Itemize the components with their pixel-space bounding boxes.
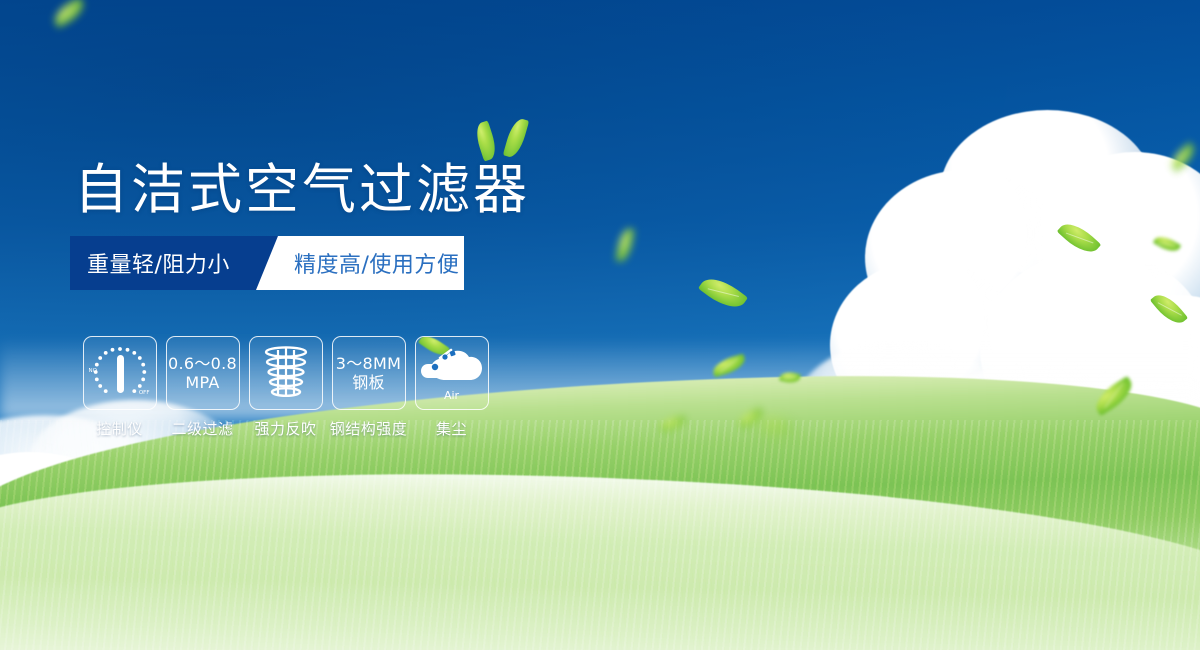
feature-label: 控制仪 (96, 418, 143, 439)
steel-plate-text-icon: 3～8MM 钢板 (336, 354, 401, 392)
feature-label: 钢结构强度 (330, 418, 408, 439)
cloud-glyph-icon (421, 344, 483, 388)
feature-label: 强力反吹 (254, 418, 316, 439)
feature-list: NO OFF 控制仪 0.6～0.8 MPA 二级过滤 (78, 336, 493, 439)
feature-label: 集尘 (436, 418, 467, 439)
dial-on-label: NO (89, 368, 97, 374)
air-cloud-icon: Air (421, 344, 483, 402)
subtitle-bar: 重量轻/阻力小 精度高/使用方便 (70, 236, 464, 290)
dial-pointer (117, 355, 124, 393)
steel-material: 钢板 (336, 373, 401, 392)
control-dial-icon: NO OFF (88, 341, 152, 405)
feature-item-dust-collection[interactable]: Air 集尘 (410, 336, 493, 439)
subtitle-right-panel: 精度高/使用方便 (256, 236, 464, 290)
feature-icon-box: Air (415, 336, 489, 410)
feature-icon-box: NO OFF (83, 336, 157, 410)
pressure-range: 0.6～0.8 (168, 354, 237, 373)
feature-icon-box: 3～8MM 钢板 (332, 336, 406, 410)
feature-icon-box: 0.6～0.8 MPA (166, 336, 240, 410)
feature-item-two-stage-filter[interactable]: 0.6～0.8 MPA 二级过滤 (161, 336, 244, 439)
feature-item-steel-strength[interactable]: 3～8MM 钢板 钢结构强度 (327, 336, 410, 439)
subtitle-left-text: 重量轻/阻力小 (87, 247, 230, 279)
product-banner: 自洁式空气过滤器 重量轻/阻力小 精度高/使用方便 (0, 0, 1200, 650)
feature-item-control-meter[interactable]: NO OFF 控制仪 (78, 336, 161, 439)
pressure-text-icon: 0.6～0.8 MPA (168, 354, 237, 392)
dial-off-label: OFF (139, 390, 150, 396)
filter-cartridge-icon (258, 344, 314, 402)
subtitle-right-text: 精度高/使用方便 (294, 247, 459, 279)
steel-thickness: 3～8MM (336, 354, 401, 373)
feature-label: 二级过滤 (171, 418, 233, 439)
pressure-unit: MPA (168, 373, 237, 392)
air-label: Air (421, 389, 483, 402)
feature-icon-box (249, 336, 323, 410)
page-title: 自洁式空气过滤器 (74, 145, 530, 224)
feature-item-strong-backflush[interactable]: 强力反吹 (244, 336, 327, 439)
